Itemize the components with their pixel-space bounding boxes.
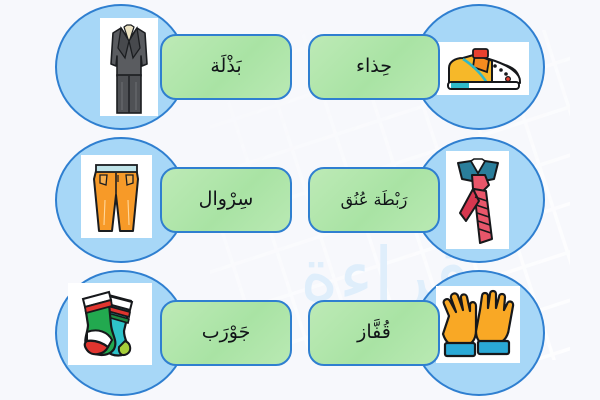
word-pair-trousers[interactable]: سِرْوال (0, 133, 300, 266)
word-pair-suit[interactable]: بَذْلَة (0, 0, 300, 133)
gloves-icon (436, 286, 520, 363)
word-pair-shoe[interactable]: حِذاء (300, 0, 600, 133)
word-row: سِرْوال (0, 133, 600, 266)
word-row: بَذْلَة (0, 0, 600, 133)
trousers-icon (81, 155, 152, 238)
socks-icon (68, 283, 152, 365)
suit-icon (100, 18, 158, 116)
word-row: جَوْرَب قُفَّاز (0, 266, 600, 399)
word-text: قُفَّاز (357, 319, 391, 347)
vocabulary-matching-board: بَذْلَة (0, 0, 600, 400)
word-text: رَبْطَة عُنُق (341, 188, 408, 211)
word-pair-socks[interactable]: جَوْرَب (0, 266, 300, 399)
word-pair-necktie[interactable]: رَبْطَة عُنُق (300, 133, 600, 266)
word-card[interactable]: سِرْوال (160, 167, 292, 233)
word-text: حِذاء (356, 53, 392, 81)
word-card[interactable]: حِذاء (308, 34, 440, 100)
word-card[interactable]: بَذْلَة (160, 34, 292, 100)
word-pair-gloves[interactable]: قُفَّاز (300, 266, 600, 399)
shoe-icon (437, 42, 529, 95)
necktie-icon (446, 151, 509, 249)
word-text: بَذْلَة (210, 53, 241, 81)
word-card[interactable]: قُفَّاز (308, 300, 440, 366)
word-text: سِرْوال (199, 186, 254, 214)
word-card[interactable]: جَوْرَب (160, 300, 292, 366)
word-card[interactable]: رَبْطَة عُنُق (308, 167, 440, 233)
word-text: جَوْرَب (202, 319, 251, 347)
